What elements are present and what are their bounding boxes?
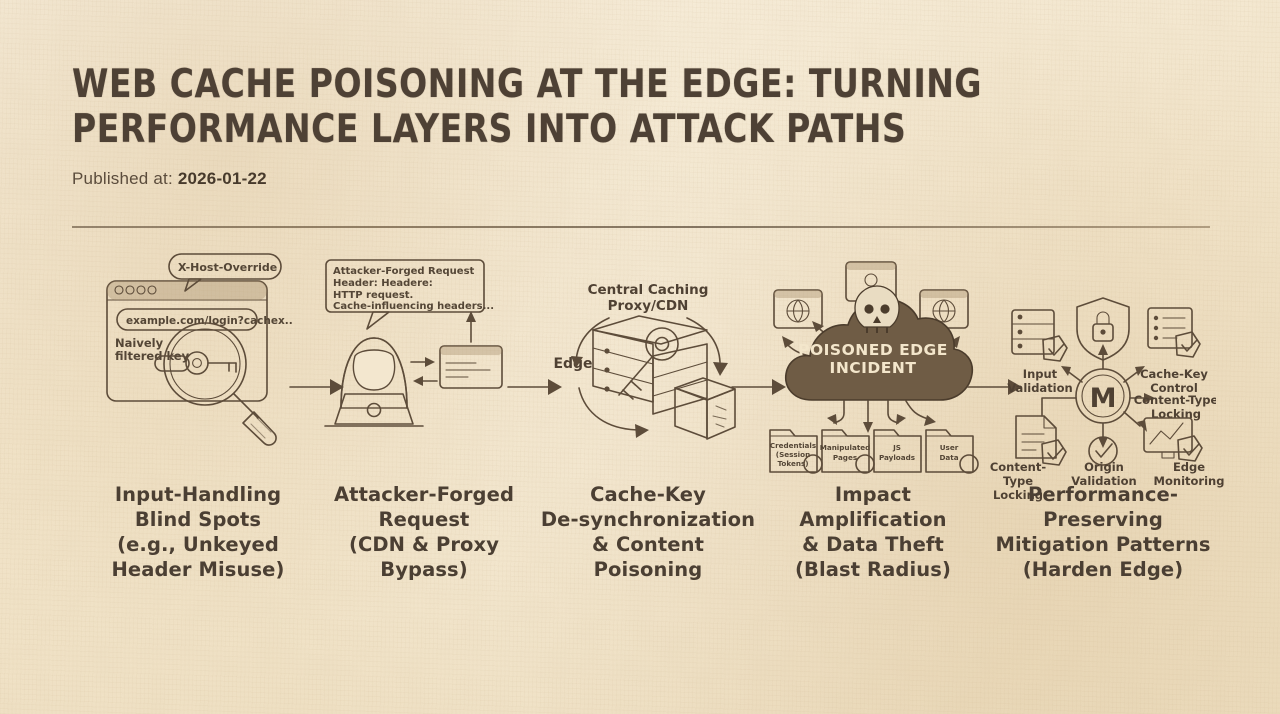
cache-server-icon — [593, 316, 707, 414]
loot-folder-manipulated-pages: Manipulated Pages — [820, 430, 874, 473]
stage-4-caption-line-3: & Data Theft — [756, 532, 990, 557]
stage-2-callout-line-2: Header: Headere: — [333, 278, 433, 289]
attack-flow-diagram: example.com/login?cachex.. X-Host-Overri… — [0, 248, 1280, 608]
stage-4-caption: Impact Amplification & Data Theft (Blast… — [756, 482, 990, 582]
stage-3-caption-line-4: Poisoning — [531, 557, 765, 582]
loot-2-line-1: Manipulated — [820, 443, 871, 452]
stage-3-title-line-1: Central Caching — [588, 282, 709, 298]
stage-1-caption-line-1: Input-Handling — [81, 482, 315, 507]
loot-3-line-1: JS — [892, 443, 901, 452]
stage-2-caption: Attacker-Forged Request (CDN & Proxy Byp… — [307, 482, 541, 582]
stage-4-illustration: POISONED EDGE INCIDENT Credentials (Sess… — [760, 248, 986, 480]
stage-4-cloud-title-line-1: POISONED EDGE — [798, 341, 948, 359]
stage-4-caption-line-1: Impact — [756, 482, 990, 507]
stage-3-title-line-2: Proxy/CDN — [608, 298, 689, 314]
stage-3-illustration: Central Caching Proxy/CDN Edge — [535, 248, 761, 480]
stage-2-caption-line-4: Bypass) — [307, 557, 541, 582]
stage-5-caption-line-2: Preserving — [986, 507, 1220, 532]
spoke-label-content-type-locking-right-line-2: Locking — [1151, 407, 1201, 421]
spoke-label-input-validation-line-1: Input — [1023, 367, 1058, 381]
stage-2-caption-line-2: Request — [307, 507, 541, 532]
stage-5-caption: Performance- Preserving Mitigation Patte… — [986, 482, 1220, 582]
stage-4-cloud-title-line-2: INCIDENT — [830, 359, 917, 377]
stage-3-caption-line-1: Cache-Key — [531, 482, 765, 507]
published-line: Published at: 2026-01-22 — [72, 169, 1212, 189]
stage-1-caption: Input-Handling Blind Spots (e.g., Unkeye… — [81, 482, 315, 582]
mitigation-icon-document — [1016, 416, 1066, 465]
stage-5-illustration: M Input Validation Cache-Key Control — [990, 248, 1216, 480]
stage-5-caption-line-3: Mitigation Patterns — [986, 532, 1220, 557]
stage-3-caption: Cache-Key De-synchronization & Content P… — [531, 482, 765, 582]
stage-2-callout-line-4: Cache-influencing headers... — [333, 301, 494, 312]
stage-1-caption-line-3: (e.g., Unkeyed — [81, 532, 315, 557]
loot-folder-credentials: Credentials (Session Tokens) — [770, 430, 822, 473]
spoke-label-origin-validation-line-1: Origin — [1064, 460, 1144, 474]
stage-1-url-text: example.com/login?cachex.. — [126, 315, 293, 327]
poisoned-edge-cloud: POISONED EDGE INCIDENT — [786, 286, 973, 400]
hooded-attacker-icon — [325, 338, 423, 426]
spoke-label-cache-key-control-line-1: Cache-Key — [1140, 367, 1208, 381]
stage-3-caption-line-2: De-synchronization — [531, 507, 765, 532]
stage-1-caption-line-2: Blind Spots — [81, 507, 315, 532]
header-divider — [72, 226, 1210, 228]
flow-stage-cache-key-desynchronization: Central Caching Proxy/CDN Edge — [535, 248, 761, 608]
loot-3-line-2: Payloads — [879, 453, 915, 462]
mitigation-hub: M — [1076, 369, 1130, 423]
published-label: Published at: — [72, 169, 173, 188]
stage-1-caption-line-4: Header Misuse) — [81, 557, 315, 582]
loot-folder-user-data: User Data — [926, 430, 978, 473]
mitigation-icon-monitoring — [1144, 418, 1202, 461]
stage-1-note-line-1: Naively — [115, 336, 164, 350]
loot-4-line-2: Data — [939, 453, 958, 462]
magnifier-icon — [164, 323, 276, 445]
mitigation-icon-server-rack — [1012, 310, 1067, 361]
key-icon — [155, 352, 236, 374]
document-header: WEB CACHE POISONING AT THE EDGE: TURNING… — [72, 62, 1212, 189]
flow-stage-attacker-forged-request: Attacker-Forged Request Header: Headere:… — [311, 248, 537, 608]
published-date: 2026-01-22 — [178, 169, 267, 188]
flow-stage-impact-amplification: POISONED EDGE INCIDENT Credentials (Sess… — [760, 248, 986, 608]
stage-3-caption-line-3: & Content — [531, 532, 765, 557]
stage-5-caption-line-1: Performance- — [986, 482, 1220, 507]
mitigation-hub-letter: M — [1090, 383, 1117, 414]
spoke-label-content-type-locking-right-line-1: Content-Type — [1134, 393, 1216, 407]
loot-4-line-1: User — [940, 443, 959, 452]
loot-1-line-2: (Session — [776, 450, 810, 459]
flow-stage-mitigation-patterns: M Input Validation Cache-Key Control — [990, 248, 1216, 608]
stage-2-caption-line-3: (CDN & Proxy — [307, 532, 541, 557]
loot-2-line-2: Pages — [833, 453, 857, 462]
stage-2-caption-line-1: Attacker-Forged — [307, 482, 541, 507]
stage-2-illustration: Attacker-Forged Request Header: Headere:… — [311, 248, 537, 480]
stage-5-caption-line-4: (Harden Edge) — [986, 557, 1220, 582]
stage-2-callout-line-1: Attacker-Forged Request — [333, 266, 475, 277]
spoke-label-input-validation-line-2: Validation — [1007, 381, 1072, 395]
spoke-label-edge-monitoring-line-1: Edge — [1148, 460, 1230, 474]
stage-2-callout-line-3: HTTP request. — [333, 290, 413, 301]
mitigation-icon-checklist — [1148, 308, 1200, 357]
stage-4-caption-line-4: (Blast Radius) — [756, 557, 990, 582]
stage-1-bubble-text: X-Host-Override — [178, 261, 277, 274]
loot-folder-js-payloads: JS Payloads — [874, 430, 921, 472]
request-panel-icon — [440, 346, 502, 388]
flow-stage-input-handling-blind-spots: example.com/login?cachex.. X-Host-Overri… — [85, 248, 311, 608]
stage-1-illustration: example.com/login?cachex.. X-Host-Overri… — [85, 248, 311, 480]
loot-1-line-1: Credentials — [770, 441, 816, 450]
stage-4-caption-line-2: Amplification — [756, 507, 990, 532]
page-title: WEB CACHE POISONING AT THE EDGE: TURNING… — [72, 62, 1144, 152]
